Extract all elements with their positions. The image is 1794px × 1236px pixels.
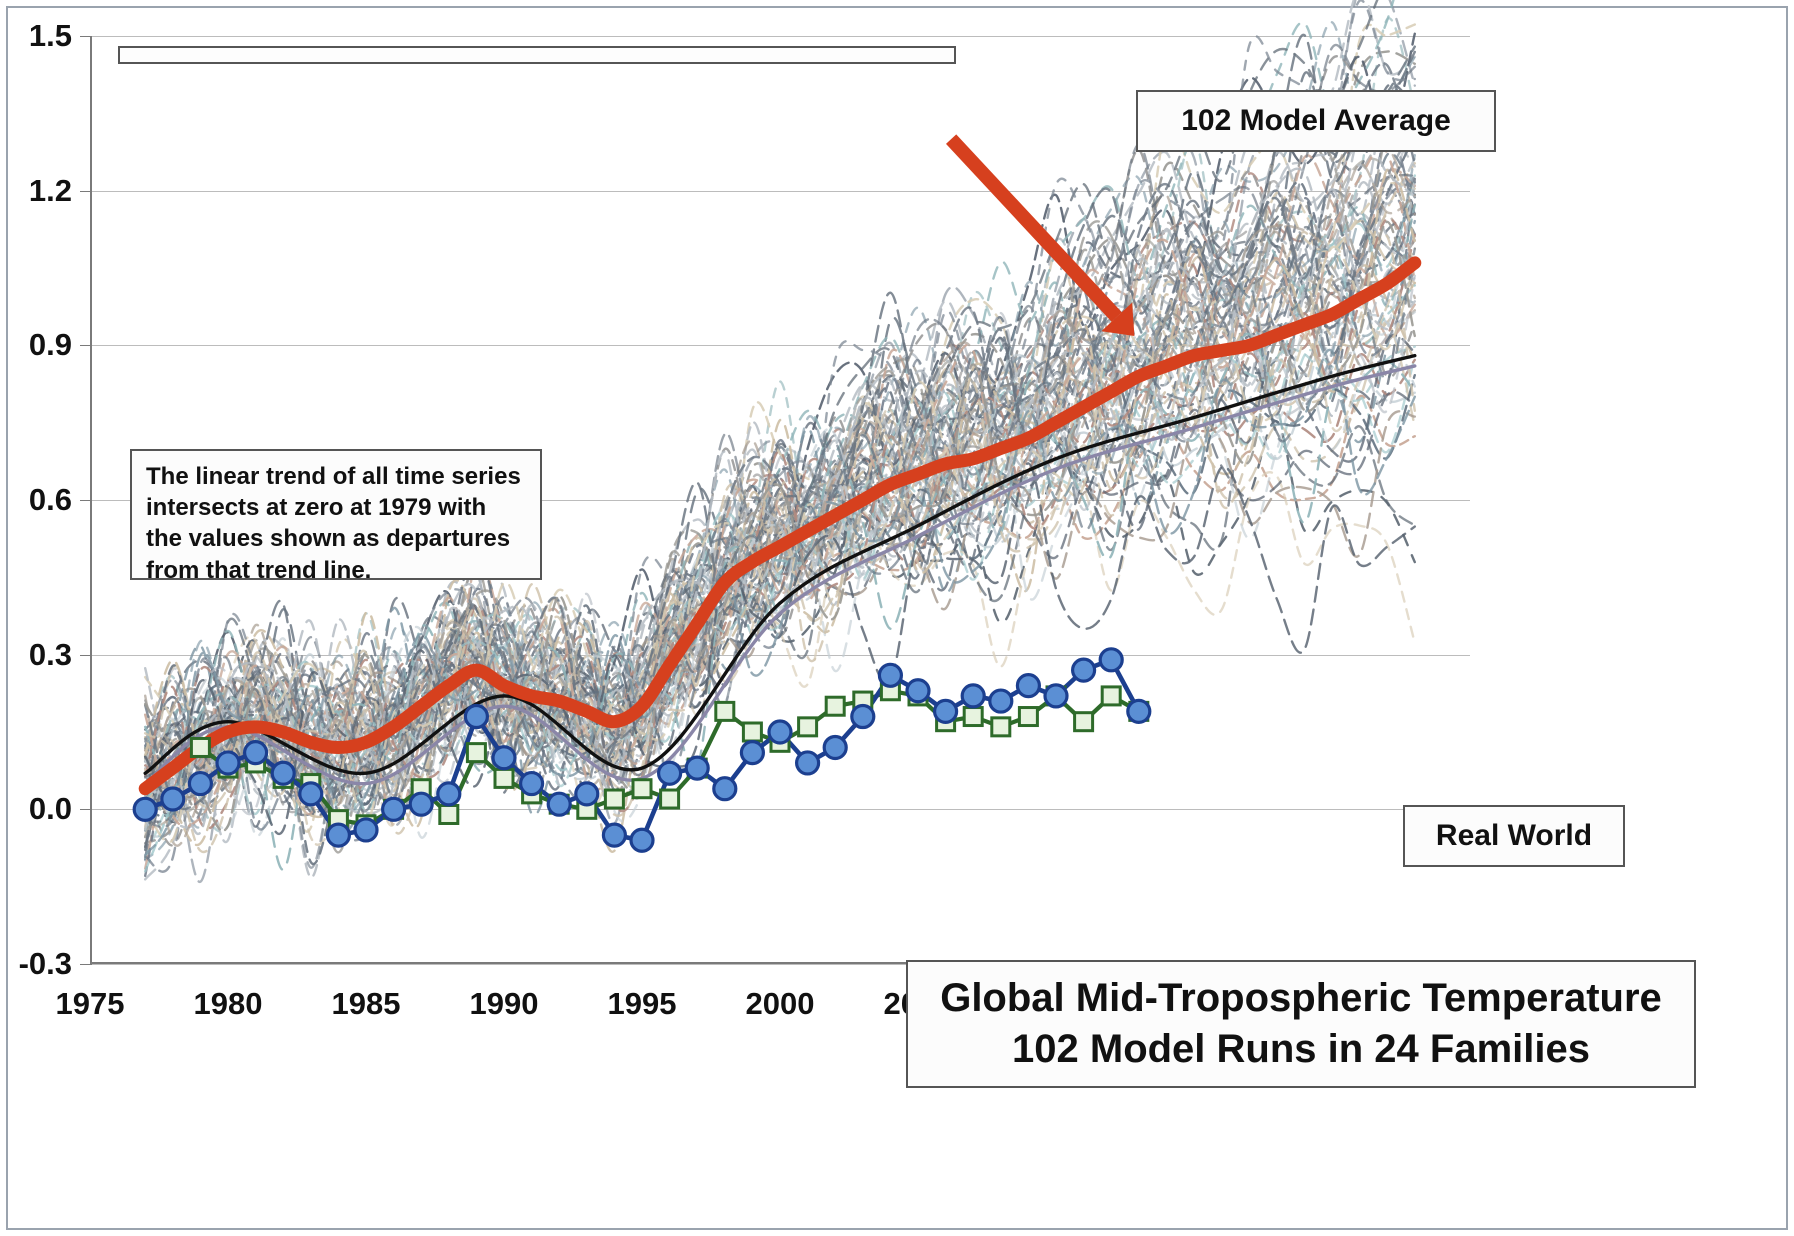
y-axis-tick-label: 0.9 — [29, 327, 72, 363]
y-axis-tick-label: -0.3 — [19, 946, 72, 982]
chart-title: Global Mid-Tropospheric Temperature — [940, 973, 1662, 1024]
y-axis-tick-label: 1.5 — [29, 18, 72, 54]
y-axis-tick-label: 1.2 — [29, 173, 72, 209]
x-axis-tick-label: 1985 — [332, 986, 401, 1022]
chart-subtitle: 102 Model Runs in 24 Families — [1012, 1024, 1590, 1075]
chart-figure: 1.51.20.90.60.30.0-0.3 19751980198519901… — [0, 0, 1794, 1236]
model-average-callout-label: 102 Model Average — [1181, 104, 1451, 138]
x-axis-tick-label: 1990 — [470, 986, 539, 1022]
real-world-callout: Real World — [1403, 805, 1625, 867]
y-axis-tick-label: 0.6 — [29, 482, 72, 518]
x-axis-tick-label: 1975 — [56, 986, 125, 1022]
y-axis-tick-label: 0.3 — [29, 637, 72, 673]
y-axis-labels: 1.51.20.90.60.30.0-0.3 — [0, 36, 80, 964]
trend-note-text: The linear trend of all time series inte… — [146, 463, 521, 584]
y-axis-tick — [80, 964, 92, 965]
model-average-callout: 102 Model Average — [1136, 90, 1496, 152]
x-axis-tick-label: 1995 — [608, 986, 677, 1022]
x-axis-tick-label: 2000 — [746, 986, 815, 1022]
x-axis-tick-label: 1980 — [194, 986, 263, 1022]
y-axis-tick-label: 0.0 — [29, 791, 72, 827]
real-world-callout-label: Real World — [1436, 819, 1592, 853]
chart-legend — [118, 46, 956, 64]
callout-arrow-shaft — [951, 139, 1117, 317]
chart-title-box: Global Mid-Tropospheric Temperature 102 … — [906, 960, 1696, 1088]
trend-note-box: The linear trend of all time series inte… — [130, 449, 542, 580]
